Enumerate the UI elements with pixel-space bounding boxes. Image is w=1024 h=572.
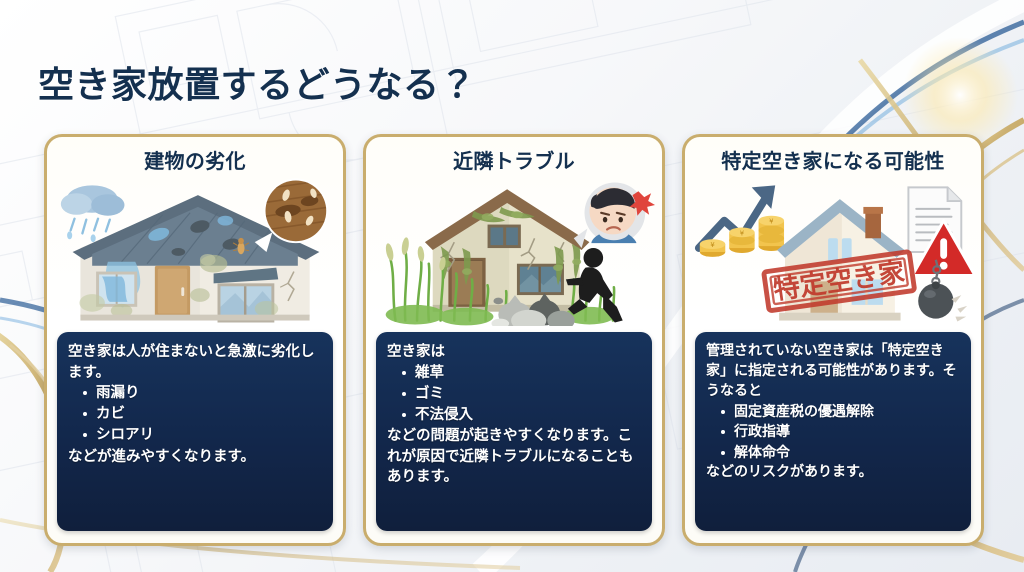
termite-magnifier-inset [255,179,330,252]
list-item: 雨漏り [82,383,322,404]
card-title: 近隣トラブル [366,150,662,172]
textbox-outro: などのリスクがあります。 [706,463,960,483]
card-neighbor-trouble[interactable]: 近隣トラブル [363,134,665,546]
textbox-bullets: 固定資産税の優遇解除 行政指導 解体命令 [706,402,960,463]
textbox-intro: 管理されていない空き家は「特定空き家」に指定される可能性があります。そうなると [706,342,960,402]
illustration-deteriorating-house [53,176,337,326]
card-textbox: 管理されていない空き家は「特定空き家」に指定される可能性があります。そうなると … [695,332,971,531]
list-item: 行政指導 [720,422,960,442]
cards-row: 建物の劣化 [44,134,984,546]
page-title: 空き家放置するどうなる？ [38,56,476,108]
angry-neighbor-bubble [574,182,655,248]
card-title: 建物の劣化 [47,150,343,172]
textbox-intro: 空き家は [387,342,641,363]
list-item: 固定資産税の優遇解除 [720,402,960,422]
list-item: 解体命令 [720,443,960,463]
card-building-deterioration[interactable]: 建物の劣化 [44,134,346,546]
textbox-bullets: 雨漏り カビ シロアリ [68,383,322,446]
illustration-specified-vacant-house: ¥ ¥ [691,176,975,326]
card-textbox: 空き家は人が住まないと急激に劣化します。 雨漏り カビ シロアリ などが進みやす… [57,332,333,531]
illustration-overgrown-house [372,176,656,326]
svg-text:¥: ¥ [769,218,774,226]
card-textbox: 空き家は 雑草 ゴミ 不法侵入 などの問題が起きやすくなります。これが原因で近隣… [376,332,652,531]
textbox-outro: などの問題が起きやすくなります。これが原因で近隣トラブルになることもあります。 [387,426,641,488]
list-item: カビ [82,404,322,425]
slide-root: 空き家放置するどうなる？ 建物の劣化 [0,0,1024,572]
textbox-outro: などが進みやすくなります。 [68,447,322,468]
svg-text:¥: ¥ [740,229,745,237]
card-title: 特定空き家になる可能性 [685,150,981,172]
list-item: 雑草 [401,363,641,384]
textbox-bullets: 雑草 ゴミ 不法侵入 [387,363,641,426]
svg-text:¥: ¥ [710,241,715,249]
list-item: ゴミ [401,384,641,405]
list-item: 不法侵入 [401,405,641,426]
card-specified-vacant-house[interactable]: 特定空き家になる可能性 ¥ [682,134,984,546]
textbox-intro: 空き家は人が住まないと急激に劣化します。 [68,342,322,383]
list-item: シロアリ [82,425,322,446]
